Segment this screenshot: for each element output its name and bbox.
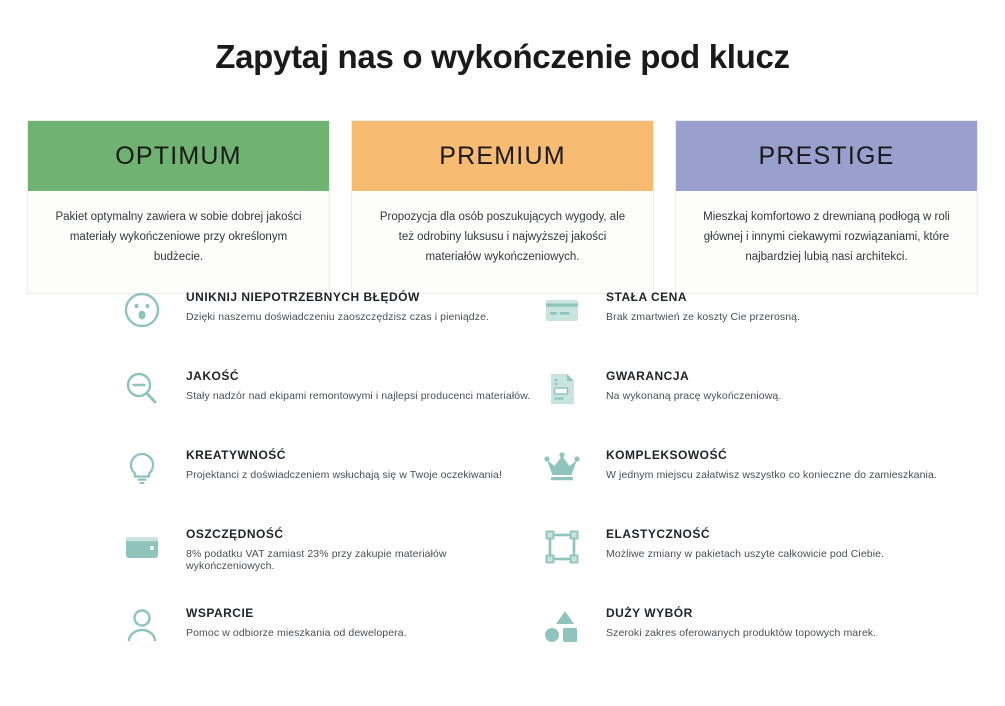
lightbulb-icon	[118, 444, 166, 492]
feature-description: Na wykonaną pracę wykończeniową.	[606, 390, 781, 402]
feature-grid: UNIKNIJ NIEPOTRZEBNYCH BŁĘDÓW Dzięki nas…	[118, 284, 948, 679]
feature-item: WSPARCIE Pomoc w odbiorze mieszkania od …	[118, 600, 538, 679]
feature-item: KREATYWNOŚĆ Projektanci z doświadczeniem…	[118, 442, 538, 521]
feature-text: WSPARCIE Pomoc w odbiorze mieszkania od …	[186, 600, 407, 639]
package-name: PREMIUM	[439, 142, 565, 171]
user-icon	[118, 602, 166, 650]
feature-title: UNIKNIJ NIEPOTRZEBNYCH BŁĘDÓW	[186, 290, 489, 304]
feature-text: UNIKNIJ NIEPOTRZEBNYCH BŁĘDÓW Dzięki nas…	[186, 284, 489, 323]
package-card-prestige[interactable]: PRESTIGE Mieszkaj komfortowo z drewnianą…	[675, 120, 978, 294]
feature-text: OSZCZĘDNOŚĆ 8% podatku VAT zamiast 23% p…	[186, 521, 538, 572]
feature-title: DUŻY WYBÓR	[606, 606, 876, 620]
feature-item: GWARANCJA Na wykonaną pracę wykończeniow…	[538, 363, 948, 442]
feature-text: KREATYWNOŚĆ Projektanci z doświadczeniem…	[186, 442, 502, 481]
feature-description: Projektanci z doświadczeniem wsłuchają s…	[186, 469, 502, 481]
feature-text: GWARANCJA Na wykonaną pracę wykończeniow…	[606, 363, 781, 402]
package-name: OPTIMUM	[115, 142, 241, 171]
package-cards: OPTIMUM Pakiet optymalny zawiera w sobie…	[27, 120, 978, 294]
package-card-header: PRESTIGE	[676, 121, 977, 191]
shapes-icon	[538, 602, 586, 650]
package-description: Propozycja dla osób poszukujących wygody…	[352, 191, 653, 293]
feature-item: OSZCZĘDNOŚĆ 8% podatku VAT zamiast 23% p…	[118, 521, 538, 600]
package-card-header: OPTIMUM	[28, 121, 329, 191]
package-card-header: PREMIUM	[352, 121, 653, 191]
feature-text: JAKOŚĆ Stały nadzór nad ekipami remontow…	[186, 363, 530, 402]
feature-text: KOMPLEKSOWOŚĆ W jednym miejscu załatwisz…	[606, 442, 937, 481]
feature-description: Stały nadzór nad ekipami remontowymi i n…	[186, 390, 530, 402]
document-icon	[538, 365, 586, 413]
feature-text: DUŻY WYBÓR Szeroki zakres oferowanych pr…	[606, 600, 876, 639]
credit-card-icon	[538, 286, 586, 334]
page-title: Zapytaj nas o wykończenie pod klucz	[0, 38, 1005, 76]
package-card-premium[interactable]: PREMIUM Propozycja dla osób poszukującyc…	[351, 120, 654, 294]
feature-description: Szeroki zakres oferowanych produktów top…	[606, 627, 876, 639]
feature-item: STAŁA CENA Brak zmartwień ze koszty Cie …	[538, 284, 948, 363]
feature-description: Możliwe zmiany w pakietach uszyte całkow…	[606, 548, 884, 560]
feature-text: ELASTYCZNOŚĆ Możliwe zmiany w pakietach …	[606, 521, 884, 560]
crown-icon	[538, 444, 586, 492]
resize-handles-icon	[538, 523, 586, 571]
package-description: Mieszkaj komfortowo z drewnianą podłogą …	[676, 191, 977, 293]
feature-description: Brak zmartwień ze koszty Cie przerosną.	[606, 311, 800, 323]
magnifier-minus-icon	[118, 365, 166, 413]
feature-item: KOMPLEKSOWOŚĆ W jednym miejscu załatwisz…	[538, 442, 948, 521]
package-description: Pakiet optymalny zawiera w sobie dobrej …	[28, 191, 329, 293]
feature-description: W jednym miejscu załatwisz wszystko co k…	[606, 469, 937, 481]
package-card-optimum[interactable]: OPTIMUM Pakiet optymalny zawiera w sobie…	[27, 120, 330, 294]
feature-title: ELASTYCZNOŚĆ	[606, 527, 884, 541]
feature-title: STAŁA CENA	[606, 290, 800, 304]
landing-page: Zapytaj nas o wykończenie pod klucz OPTI…	[0, 0, 1005, 706]
feature-title: WSPARCIE	[186, 606, 407, 620]
feature-item: JAKOŚĆ Stały nadzór nad ekipami remontow…	[118, 363, 538, 442]
feature-item: DUŻY WYBÓR Szeroki zakres oferowanych pr…	[538, 600, 948, 679]
feature-item: UNIKNIJ NIEPOTRZEBNYCH BŁĘDÓW Dzięki nas…	[118, 284, 538, 363]
feature-description: Dzięki naszemu doświadczeniu zaoszczędzi…	[186, 311, 489, 323]
feature-description: Pomoc w odbiorze mieszkania od deweloper…	[186, 627, 407, 639]
feature-title: OSZCZĘDNOŚĆ	[186, 527, 538, 541]
feature-title: JAKOŚĆ	[186, 369, 530, 383]
feature-title: KOMPLEKSOWOŚĆ	[606, 448, 937, 462]
package-name: PRESTIGE	[758, 142, 894, 171]
feature-title: KREATYWNOŚĆ	[186, 448, 502, 462]
surprised-face-icon	[118, 286, 166, 334]
wallet-icon	[118, 523, 166, 571]
feature-title: GWARANCJA	[606, 369, 781, 383]
feature-text: STAŁA CENA Brak zmartwień ze koszty Cie …	[606, 284, 800, 323]
feature-description: 8% podatku VAT zamiast 23% przy zakupie …	[186, 548, 538, 572]
feature-item: ELASTYCZNOŚĆ Możliwe zmiany w pakietach …	[538, 521, 948, 600]
